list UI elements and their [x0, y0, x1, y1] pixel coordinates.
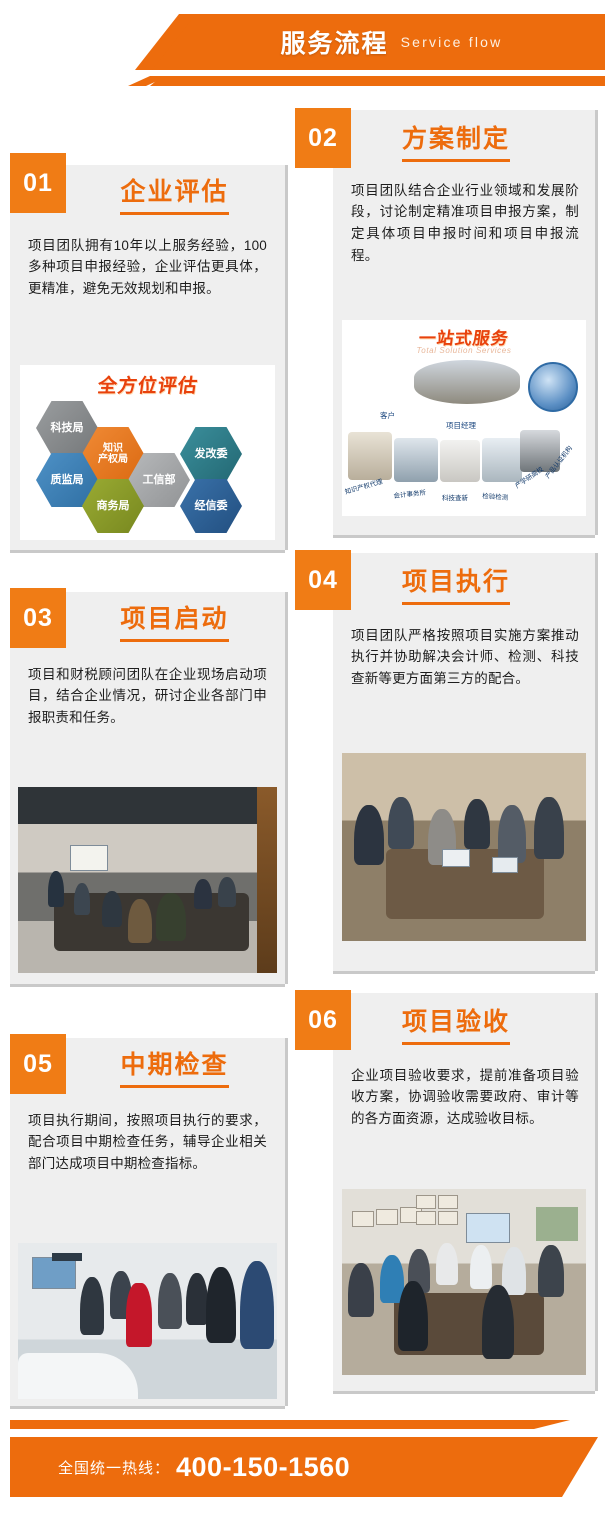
card-01-media: 全方位评估 科技局 知识产权局 质监局 工信部 商务局 发改委 经信委: [20, 365, 275, 540]
footer-accent-stripe: [10, 1420, 570, 1429]
card-badge-06: 06: [295, 990, 351, 1050]
card-05-media: [18, 1243, 277, 1399]
infographic-page: 服务流程 Service flow 01 企业评估 项目团队拥有10年以上服务经…: [0, 0, 605, 1538]
card-03: 项目启动 项目和财税顾问团队在企业现场启动项目，结合企业情况，研讨企业各部门申报…: [10, 592, 285, 984]
oss-leaf-tech-search: 科技查新: [442, 492, 468, 502]
header-accent-stripe: [150, 76, 605, 86]
header-title-cn: 服务流程: [281, 24, 389, 60]
card-body-01: 项目团队拥有10年以上服务经验，100多种项目申报经验，企业评估更具体，更精准，…: [28, 235, 267, 301]
card-body-03: 项目和财税顾问团队在企业现场启动项目，结合企业情况，研讨企业各部门申报职责和任务…: [28, 664, 267, 730]
footer-hotline-number[interactable]: 400-150-1560: [176, 1452, 350, 1483]
card-body-05: 项目执行期间，按照项目执行的要求，配合项目中期检查任务，辅导企业相关部门达成项目…: [28, 1110, 267, 1176]
card-06: 项目验收 企业项目验收要求，提前准备项目验收方案，协调验收需要政府、审计等的各方…: [333, 993, 595, 1391]
card-title-04: 项目执行: [402, 569, 510, 605]
card-body-06: 企业项目验收要求，提前准备项目验收方案，协调验收需要政府、审计等的各方面资源，达…: [351, 1065, 579, 1131]
card-title-05: 中期检查: [120, 1052, 228, 1088]
footer-hotline-label: 全国统一热线：: [58, 1457, 170, 1478]
card-badge-05: 05: [10, 1034, 66, 1094]
card-badge-04: 04: [295, 550, 351, 610]
card-04: 项目执行 项目团队严格按照项目实施方案推动执行并协助解决会计师、检测、科技查新等…: [333, 553, 595, 971]
card-01: 企业评估 项目团队拥有10年以上服务经验，100多种项目申报经验，企业评估更具体…: [10, 165, 285, 550]
card-title-02: 方案制定: [402, 126, 510, 162]
hex-node-jingxinwei: 经信委: [180, 479, 242, 533]
one-stop-chart-subtitle: Total Solution Services: [417, 346, 512, 355]
card-06-media: [342, 1189, 586, 1375]
card-03-media: [18, 787, 277, 973]
oss-leaf-inspection: 检验检测: [482, 490, 509, 502]
card-02-media: 一站式服务 Total Solution Services 客户 项目经理 知识…: [342, 320, 586, 516]
card-body-02: 项目团队结合企业行业领域和发展阶段，讨论制定精准项目申报方案，制定具体项目申报时…: [351, 180, 579, 267]
card-title-03: 项目启动: [120, 606, 228, 642]
card-04-media: [342, 753, 586, 941]
hex-node-fagaiwei: 发改委: [180, 427, 242, 481]
oss-node-manager: 项目经理: [446, 420, 476, 431]
card-badge-03: 03: [10, 588, 66, 648]
card-02: 方案制定 项目团队结合企业行业领域和发展阶段，讨论制定精准项目申报方案，制定具体…: [333, 110, 595, 535]
card-badge-01: 01: [10, 153, 66, 213]
card-title-01: 企业评估: [120, 179, 228, 215]
header-band: 服务流程 Service flow: [152, 14, 605, 70]
footer-band: 全国统一热线： 400-150-1560: [10, 1437, 598, 1497]
card-badge-02: 02: [295, 108, 351, 168]
oss-leaf-accounting: 会计事务所: [393, 487, 426, 500]
card-body-04: 项目团队严格按照项目实施方案推动执行并协助解决会计师、检测、科技查新等更方面第三…: [351, 625, 579, 691]
oss-node-customer: 客户: [380, 410, 395, 421]
card-title-06: 项目验收: [402, 1009, 510, 1045]
hexagon-chart-title: 全方位评估: [96, 371, 200, 398]
oss-certification-seal: [528, 362, 578, 412]
page-header: 服务流程 Service flow: [0, 14, 605, 100]
header-title-en: Service flow: [401, 34, 503, 50]
